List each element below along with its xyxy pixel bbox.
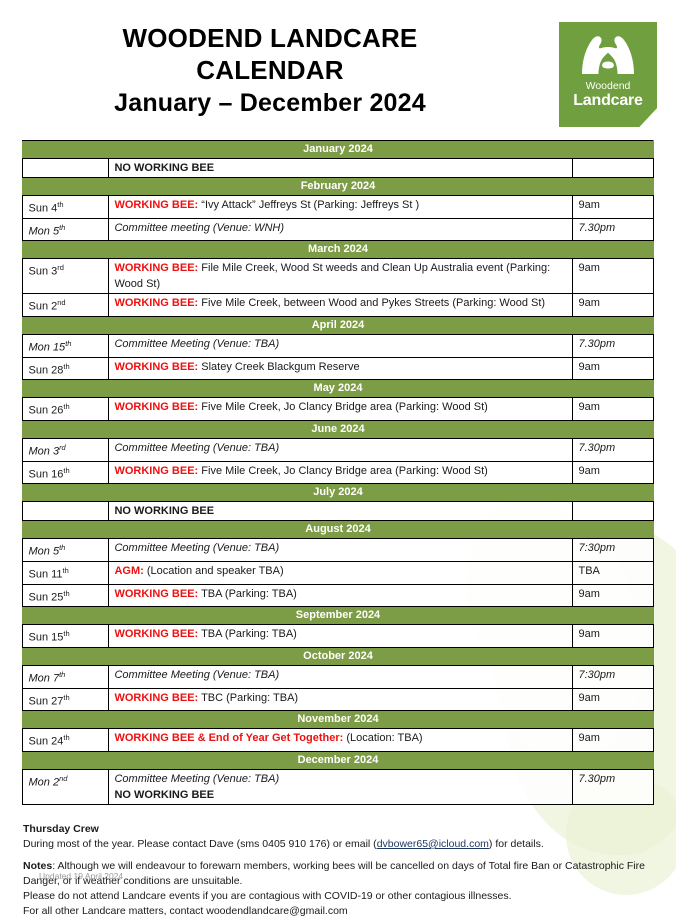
calendar-event-row: Sun 11thAGM: (Location and speaker TBA)T…	[23, 561, 653, 584]
event-date-cell: Sun 16th	[23, 461, 109, 484]
event-description-cell: WORKING BEE: TBA (Parking: TBA)	[109, 584, 573, 607]
event-date-cell: Sun 15th	[23, 625, 109, 648]
event-date-ordinal: th	[63, 589, 69, 598]
event-description-cell: Committee meeting (Venue: WNH)	[109, 218, 573, 241]
month-header-row: December 2024	[23, 751, 653, 769]
event-date-cell: Mon 2nd	[23, 769, 109, 804]
event-date: Sun 11	[28, 569, 62, 581]
logo-word-bottom: Landcare	[573, 92, 643, 110]
woodend-landcare-logo: Woodend Landcare	[559, 22, 657, 127]
page-title: WOODEND LANDCARE CALENDAR January – Dece…	[0, 22, 520, 120]
event-date-ordinal: th	[59, 223, 65, 232]
event-date-cell: Mon 5th	[23, 218, 109, 241]
event-date: Sun 16	[28, 468, 63, 480]
month-header-row: July 2024	[23, 484, 653, 502]
calendar-event-row: Mon 3rdCommittee Meeting (Venue: TBA)7.3…	[23, 438, 653, 461]
time-spacer	[578, 276, 648, 292]
title-line-1: WOODEND LANDCARE	[20, 22, 520, 54]
event-date-cell: Sun 2nd	[23, 294, 109, 317]
event-time-cell: 9am	[573, 461, 653, 484]
event-date-cell: Sun 11th	[23, 561, 109, 584]
month-heading: April 2024	[23, 316, 653, 334]
event-time: TBA	[578, 565, 599, 577]
calendar-event-row: Sun 27thWORKING BEE: TBC (Parking: TBA)9…	[23, 688, 653, 711]
event-time: 9am	[578, 692, 599, 704]
event-time-cell: 9am	[573, 196, 653, 219]
dave-email-link[interactable]: dvbower65@icloud.com	[377, 838, 489, 850]
event-type-label: WORKING BEE & End of Year Get Together:	[114, 732, 343, 744]
calendar-event-row: Sun 26thWORKING BEE: Five Mile Creek, Jo…	[23, 398, 653, 421]
month-heading: September 2024	[23, 607, 653, 625]
event-date-cell: Mon 5th	[23, 539, 109, 562]
event-date-ordinal: th	[63, 466, 69, 475]
event-detail: Five Mile Creek, Jo Clancy Bridge area (…	[201, 401, 488, 413]
event-description-cell: WORKING BEE: Slatey Creek Blackgum Reser…	[109, 357, 573, 380]
thursday-crew-pre: During most of the year. Please contact …	[23, 838, 377, 850]
event-detail: (Location and speaker TBA)	[147, 565, 284, 577]
event-description-cell: AGM: (Location and speaker TBA)	[109, 561, 573, 584]
event-date-cell: Sun 26th	[23, 398, 109, 421]
month-heading: June 2024	[23, 420, 653, 438]
thursday-crew-heading: Thursday Crew	[23, 822, 653, 837]
event-committee-meeting: Committee Meeting (Venue: TBA)	[114, 667, 568, 683]
contact-note: For all other Landcare matters, contact …	[23, 904, 653, 919]
month-header-row: June 2024	[23, 420, 653, 438]
month-heading: October 2024	[23, 647, 653, 665]
event-detail: Slatey Creek Blackgum Reserve	[201, 361, 359, 373]
event-date: Sun 27	[28, 695, 63, 707]
event-detail: Five Mile Creek, between Wood and Pykes …	[201, 297, 545, 309]
calendar-event-row: Sun 4thWORKING BEE: “Ivy Attack” Jeffrey…	[23, 196, 653, 219]
event-type-label: WORKING BEE:	[114, 361, 198, 373]
event-time-cell: 9am	[573, 688, 653, 711]
event-type-label: AGM:	[114, 565, 143, 577]
event-date: Sun 24	[28, 736, 63, 748]
calendar-event-row: Mon 2ndCommittee Meeting (Venue: TBA)NO …	[23, 769, 653, 804]
event-description-cell: WORKING BEE: TBA (Parking: TBA)	[109, 625, 573, 648]
event-time-cell: 9am	[573, 625, 653, 648]
event-time: 9am	[578, 401, 599, 413]
event-date: Sun 25	[28, 591, 63, 603]
month-header-row: February 2024	[23, 178, 653, 196]
month-header-row: January 2024	[23, 141, 653, 159]
month-heading: May 2024	[23, 380, 653, 398]
month-header-row: September 2024	[23, 607, 653, 625]
event-description-cell: NO WORKING BEE	[109, 159, 573, 178]
event-time: 9am	[578, 260, 648, 276]
event-time: 9am	[578, 199, 599, 211]
event-description-cell: WORKING BEE: “Ivy Attack” Jeffreys St (P…	[109, 196, 573, 219]
month-heading: November 2024	[23, 711, 653, 729]
event-date: Sun 28	[28, 364, 63, 376]
event-type-label: WORKING BEE:	[114, 628, 198, 640]
event-time-cell: TBA	[573, 561, 653, 584]
event-description-cell: Committee Meeting (Venue: TBA)	[109, 539, 573, 562]
event-date: Sun 26	[28, 405, 63, 417]
event-date-cell: Sun 24th	[23, 729, 109, 752]
event-time: 7:30pm	[578, 669, 615, 681]
event-time-cell	[573, 159, 653, 178]
event-description-cell: NO WORKING BEE	[109, 502, 573, 521]
event-time: 9am	[578, 361, 599, 373]
event-detail: Five Mile Creek, Jo Clancy Bridge area (…	[201, 465, 488, 477]
event-time: 9am	[578, 297, 599, 309]
event-date-ordinal: th	[63, 693, 69, 702]
event-description-cell: Committee Meeting (Venue: TBA)	[109, 334, 573, 357]
event-no-working-bee: NO WORKING BEE	[114, 160, 568, 176]
calendar-event-row: Sun 15thWORKING BEE: TBA (Parking: TBA)9…	[23, 625, 653, 648]
logo-word-top: Woodend	[586, 80, 631, 92]
calendar-event-row: Mon 7thCommittee Meeting (Venue: TBA)7:3…	[23, 665, 653, 688]
event-date-cell: Sun 3rd	[23, 259, 109, 294]
event-time-cell: 9am	[573, 584, 653, 607]
event-time-cell: 9am	[573, 259, 653, 294]
month-heading: January 2024	[23, 141, 653, 159]
event-type-label: WORKING BEE:	[114, 465, 198, 477]
calendar-event-row: NO WORKING BEE	[23, 502, 653, 521]
event-time-cell: 7:30pm	[573, 665, 653, 688]
covid-note: Please do not attend Landcare events if …	[23, 889, 653, 904]
event-date: Mon 7	[28, 673, 59, 685]
event-time: 7:30pm	[578, 542, 615, 554]
event-date: Mon 2	[28, 777, 59, 789]
event-time-cell: 7.30pm	[573, 438, 653, 461]
hands-australia-icon	[576, 30, 640, 78]
event-description-cell: Committee Meeting (Venue: TBA)	[109, 665, 573, 688]
event-date-cell: Mon 3rd	[23, 438, 109, 461]
event-time-cell: 9am	[573, 398, 653, 421]
calendar-event-row: Sun 25thWORKING BEE: TBA (Parking: TBA)9…	[23, 584, 653, 607]
event-date: Mon 15	[28, 342, 65, 354]
calendar-event-row: Mon 5thCommittee Meeting (Venue: TBA)7:3…	[23, 539, 653, 562]
event-date-ordinal: th	[59, 543, 65, 552]
event-date-ordinal: rd	[59, 443, 66, 452]
calendar-event-row: Sun 3rdWORKING BEE: File Mile Creek, Woo…	[23, 259, 653, 294]
event-description-cell: WORKING BEE: File Mile Creek, Wood St we…	[109, 259, 573, 294]
calendar-event-row: Sun 2ndWORKING BEE: Five Mile Creek, bet…	[23, 294, 653, 317]
event-date-ordinal: th	[63, 629, 69, 638]
event-time-cell: 7:30pm	[573, 539, 653, 562]
event-description-cell: WORKING BEE: Five Mile Creek, Jo Clancy …	[109, 398, 573, 421]
event-no-working-bee: NO WORKING BEE	[114, 503, 568, 519]
event-time: 7.30pm	[578, 222, 615, 234]
event-date: Sun 3	[28, 266, 57, 278]
event-type-label: WORKING BEE:	[114, 401, 198, 413]
event-time: 9am	[578, 588, 599, 600]
event-time-cell: 9am	[573, 729, 653, 752]
calendar-event-row: NO WORKING BEE	[23, 159, 653, 178]
event-no-working-bee: NO WORKING BEE	[114, 787, 568, 803]
event-time: 7.30pm	[578, 338, 615, 350]
event-detail: TBC (Parking: TBA)	[201, 692, 298, 704]
calendar-event-row: Mon 15thCommittee Meeting (Venue: TBA)7.…	[23, 334, 653, 357]
title-line-2: CALENDAR	[20, 54, 520, 86]
month-header-row: November 2024	[23, 711, 653, 729]
event-detail: “Ivy Attack” Jeffreys St (Parking: Jeffr…	[201, 199, 419, 211]
event-description-cell: WORKING BEE: Five Mile Creek, between Wo…	[109, 294, 573, 317]
month-heading: July 2024	[23, 484, 653, 502]
event-detail: TBA (Parking: TBA)	[201, 628, 297, 640]
event-type-label: WORKING BEE:	[114, 692, 198, 704]
calendar-event-row: Sun 16thWORKING BEE: Five Mile Creek, Jo…	[23, 461, 653, 484]
event-time-cell	[573, 502, 653, 521]
calendar-event-row: Mon 5thCommittee meeting (Venue: WNH)7.3…	[23, 218, 653, 241]
month-heading: December 2024	[23, 751, 653, 769]
title-line-3: January – December 2024	[20, 86, 520, 120]
updated-stamp: Updated 19 April 2024	[39, 871, 123, 881]
month-heading: August 2024	[23, 521, 653, 539]
event-committee-meeting: Committee Meeting (Venue: TBA)	[114, 771, 568, 787]
event-date-ordinal: th	[63, 402, 69, 411]
event-time: 7.30pm	[578, 442, 615, 454]
event-detail: TBA (Parking: TBA)	[201, 588, 297, 600]
month-header-row: August 2024	[23, 521, 653, 539]
thursday-crew-post: ) for details.	[489, 838, 544, 850]
month-header-row: October 2024	[23, 647, 653, 665]
event-detail: (Location: TBA)	[346, 732, 422, 744]
event-date: Mon 5	[28, 225, 59, 237]
event-time-cell: 9am	[573, 357, 653, 380]
event-date-ordinal: th	[63, 362, 69, 371]
event-description-cell: WORKING BEE & End of Year Get Together: …	[109, 729, 573, 752]
month-heading: March 2024	[23, 241, 653, 259]
event-date-cell	[23, 159, 109, 178]
event-date-ordinal: nd	[59, 774, 67, 783]
event-date: Sun 15	[28, 632, 63, 644]
month-heading: February 2024	[23, 178, 653, 196]
event-committee-meeting: Committee Meeting (Venue: TBA)	[114, 336, 568, 352]
event-time-cell: 7.30pm	[573, 769, 653, 804]
month-header-row: March 2024	[23, 241, 653, 259]
event-description-cell: WORKING BEE: TBC (Parking: TBA)	[109, 688, 573, 711]
event-description-cell: Committee Meeting (Venue: TBA)	[109, 438, 573, 461]
event-date: Mon 5	[28, 546, 59, 558]
event-date-cell: Mon 7th	[23, 665, 109, 688]
event-time: 7.30pm	[578, 773, 615, 785]
event-date-ordinal: th	[63, 566, 69, 575]
event-time: 9am	[578, 465, 599, 477]
event-time: 9am	[578, 732, 599, 744]
event-date-ordinal: th	[59, 670, 65, 679]
thursday-crew-block: Thursday Crew During most of the year. P…	[23, 822, 653, 852]
event-committee-meeting: Committee Meeting (Venue: TBA)	[114, 540, 568, 556]
event-description-cell: WORKING BEE: Five Mile Creek, Jo Clancy …	[109, 461, 573, 484]
calendar-event-row: Sun 24thWORKING BEE & End of Year Get To…	[23, 729, 653, 752]
event-type-label: WORKING BEE:	[114, 199, 198, 211]
event-date-cell: Sun 4th	[23, 196, 109, 219]
event-date-ordinal: th	[57, 200, 63, 209]
event-committee-meeting: Committee meeting (Venue: WNH)	[114, 220, 568, 236]
event-type-label: WORKING BEE:	[114, 588, 198, 600]
event-time-cell: 7.30pm	[573, 218, 653, 241]
event-date-ordinal: rd	[57, 263, 64, 272]
event-time: 9am	[578, 628, 599, 640]
event-date-ordinal: th	[65, 339, 71, 348]
page-header: WOODEND LANDCARE CALENDAR January – Dece…	[0, 0, 676, 140]
event-date-cell: Sun 28th	[23, 357, 109, 380]
event-date-cell: Sun 25th	[23, 584, 109, 607]
month-header-row: April 2024	[23, 316, 653, 334]
event-description-cell: Committee Meeting (Venue: TBA)NO WORKING…	[109, 769, 573, 804]
event-time-cell: 9am	[573, 294, 653, 317]
event-date: Mon 3	[28, 446, 59, 458]
event-date: Sun 4	[28, 203, 57, 215]
event-date-ordinal: nd	[57, 298, 65, 307]
event-date-cell	[23, 502, 109, 521]
event-date: Sun 2	[28, 301, 57, 313]
event-date-cell: Mon 15th	[23, 334, 109, 357]
event-time-cell: 7.30pm	[573, 334, 653, 357]
month-header-row: May 2024	[23, 380, 653, 398]
calendar-page: WOODEND LANDCARE CALENDAR January – Dece…	[0, 0, 676, 895]
event-date-cell: Sun 27th	[23, 688, 109, 711]
event-type-label: WORKING BEE:	[114, 297, 198, 309]
calendar-event-row: Sun 28thWORKING BEE: Slatey Creek Blackg…	[23, 357, 653, 380]
event-committee-meeting: Committee Meeting (Venue: TBA)	[114, 440, 568, 456]
event-type-label: WORKING BEE:	[114, 262, 198, 274]
calendar-table: January 2024 NO WORKING BEE February 202…	[22, 140, 653, 805]
event-date-ordinal: th	[63, 733, 69, 742]
